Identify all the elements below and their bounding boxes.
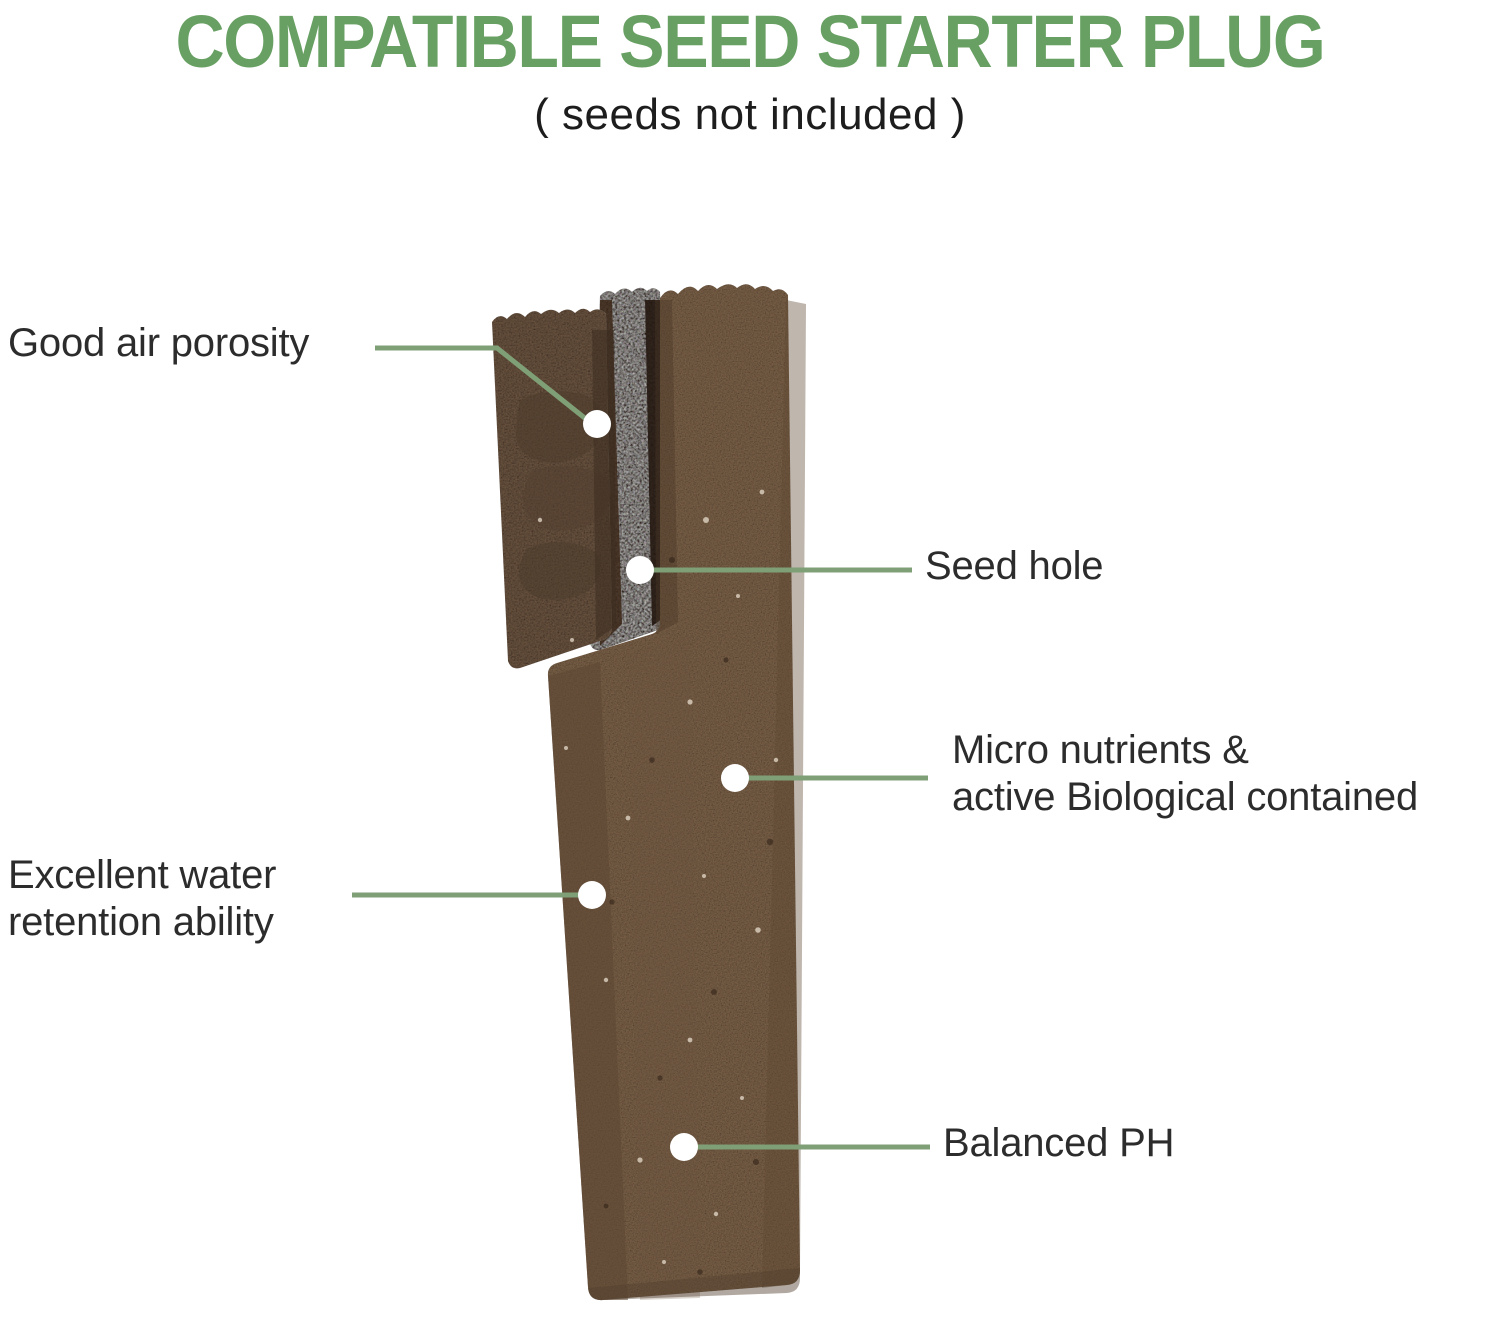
seed-starter-plug-illustration [0, 0, 1500, 1325]
callout-label-micro-nutrients: Micro nutrients & active Biological cont… [952, 727, 1418, 821]
callout-label-water-retention: Excellent water retention ability [8, 852, 276, 946]
plug-shape-svg [0, 0, 1500, 1325]
callout-label-air-porosity: Good air porosity [8, 320, 309, 367]
callout-label-seed-hole: Seed hole [925, 543, 1103, 590]
plug-left-cut-wall [492, 309, 616, 669]
infographic-page: COMPATIBLE SEED STARTER PLUG ( seeds not… [0, 0, 1500, 1325]
callout-label-balanced-ph: Balanced PH [943, 1120, 1174, 1167]
